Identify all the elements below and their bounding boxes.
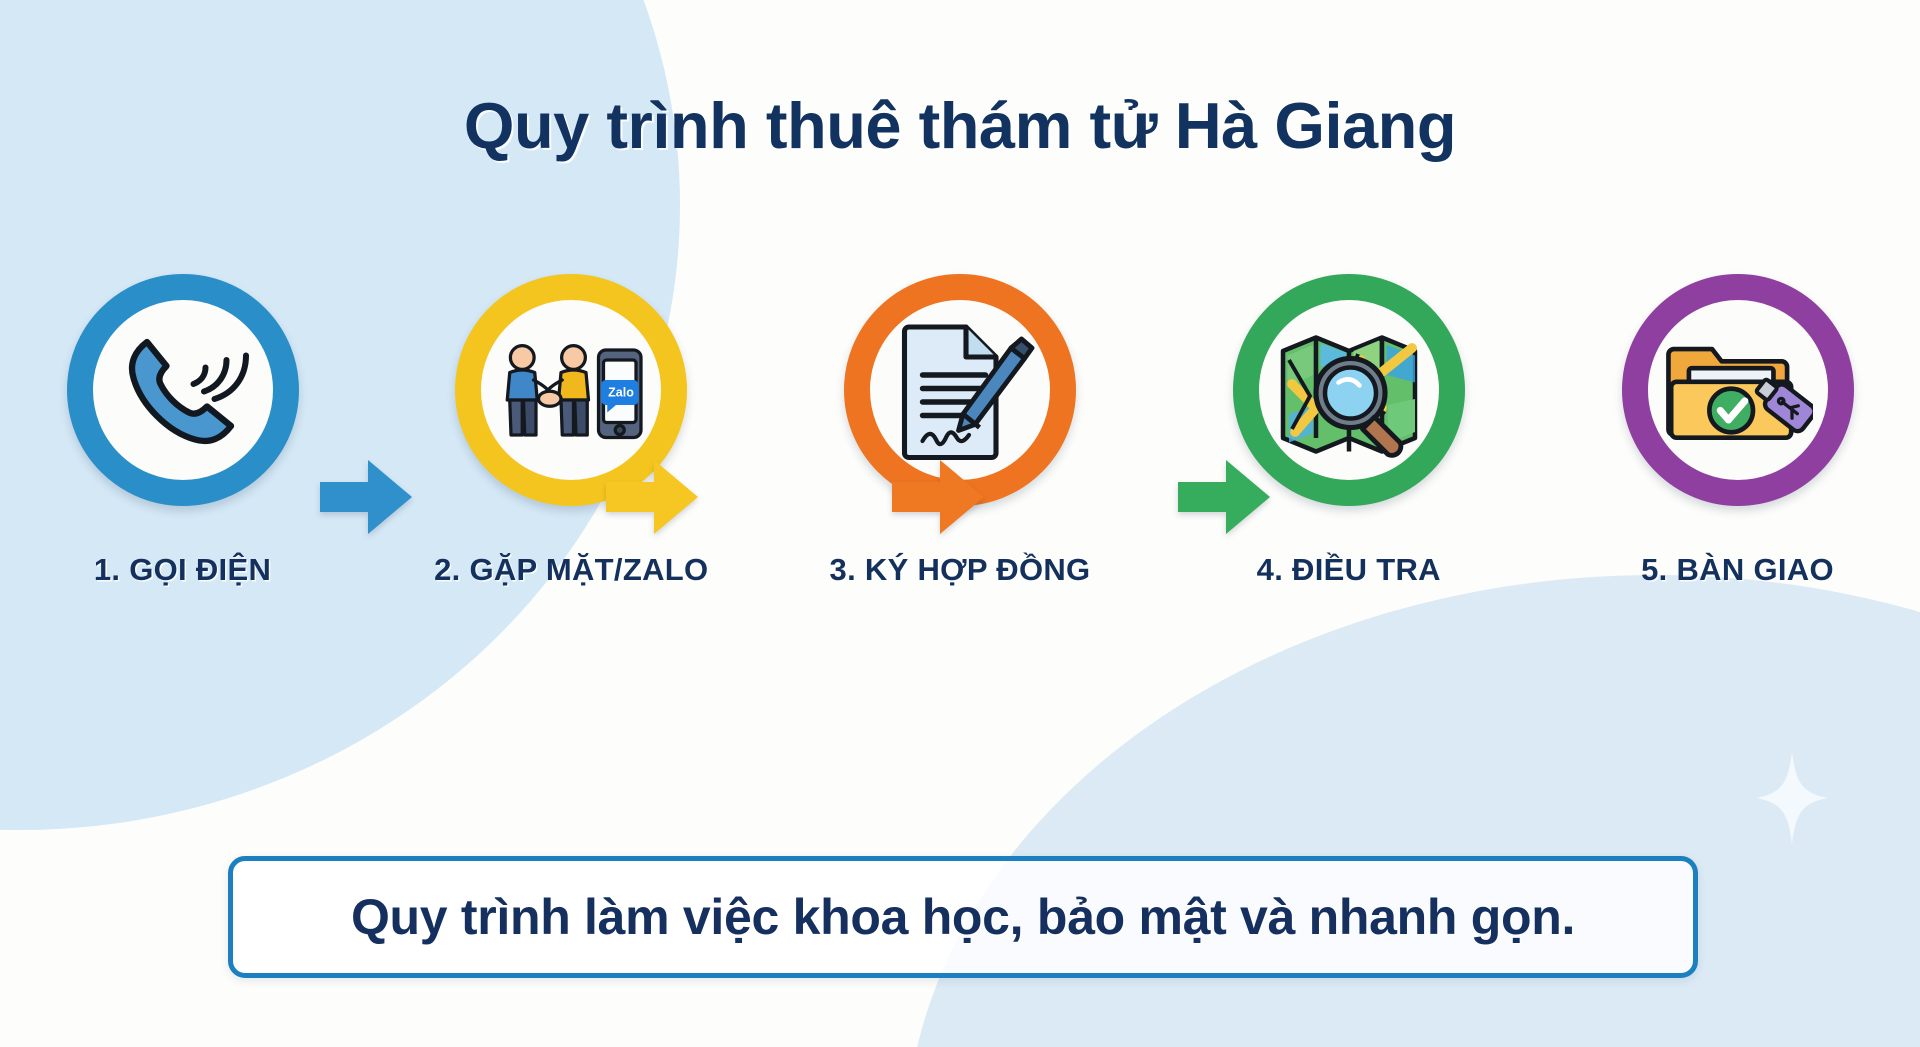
caption-text: Quy trình làm việc khoa học, bảo mật và …: [351, 888, 1575, 946]
arrow-step3-to-step4: [890, 454, 986, 540]
arrow-step2-to-step3: [604, 454, 700, 540]
zalo-logo-text: Zalo: [608, 385, 634, 399]
step-1-goi-dien[interactable]: 1. GỌI ĐIỆN: [60, 262, 305, 602]
step-3-ky-hop-dong[interactable]: 3. KÝ HỢP ĐỒNG: [838, 262, 1083, 602]
step-5-ban-giao[interactable]: 5. BÀN GIAO: [1615, 262, 1860, 602]
arrow-step4-to-step5: [1176, 454, 1272, 540]
phone-call-icon: [108, 315, 258, 465]
step-4-dieu-tra[interactable]: 4. ĐIỀU TRA: [1226, 262, 1471, 602]
step-2-label: 2. GẶP MẶT/ZALO: [407, 552, 736, 588]
step-3-label: 3. KÝ HỢP ĐỒNG: [796, 552, 1125, 588]
step-1-label: 1. GỌI ĐIỆN: [18, 552, 347, 588]
sparkle-icon: [1756, 752, 1828, 844]
folder-usb-check-icon: [1663, 315, 1813, 465]
step-5-ring: [1622, 274, 1854, 506]
process-steps: 1. GỌI ĐIỆN: [60, 262, 1860, 602]
caption-box: Quy trình làm việc khoa học, bảo mật và …: [228, 856, 1698, 978]
step-1-ring: [67, 274, 299, 506]
step-2-gap-mat-zalo[interactable]: Zalo 2. GẶP MẶT/ZALO: [449, 262, 694, 602]
arrow-step1-to-step2: [318, 454, 414, 540]
step-5-label: 5. BÀN GIAO: [1573, 552, 1902, 588]
step-4-label: 4. ĐIỀU TRA: [1184, 552, 1513, 588]
handshake-zalo-icon: Zalo: [496, 315, 646, 465]
contract-sign-icon: [885, 315, 1035, 465]
infographic-stage: Quy trình thuê thám tử Hà Giang 1. GỌI Đ…: [0, 0, 1920, 1047]
page-title: Quy trình thuê thám tử Hà Giang: [0, 88, 1920, 163]
map-magnifier-icon: [1274, 315, 1424, 465]
